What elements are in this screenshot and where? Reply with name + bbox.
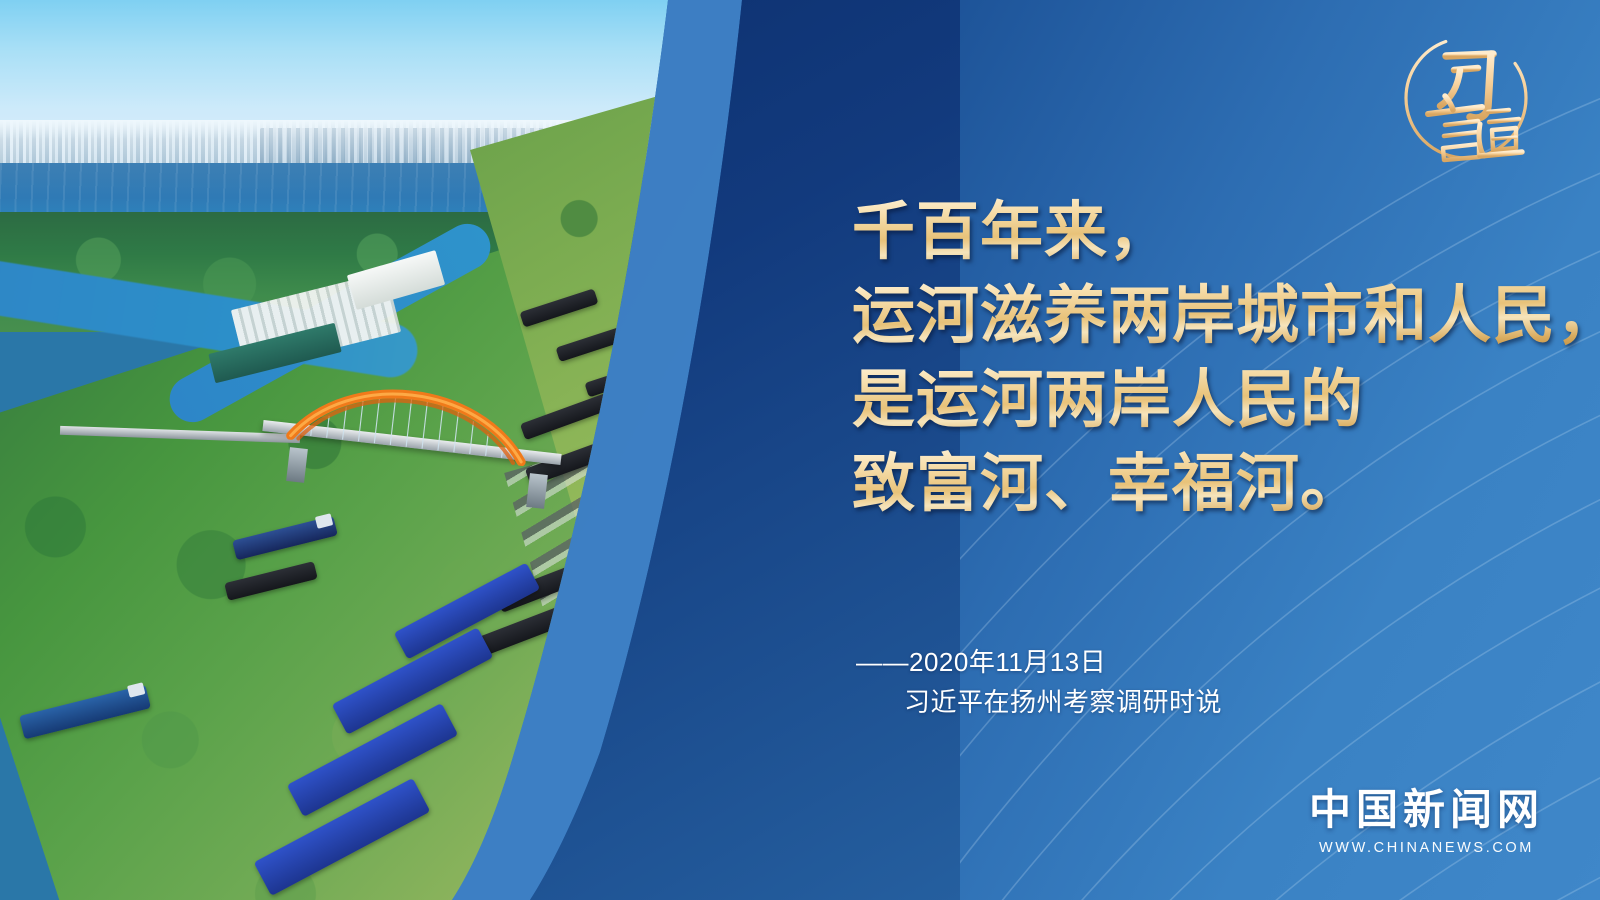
quote-line-3: 是运河两岸人民的 [852, 360, 1592, 438]
chinanews-logo[interactable]: 中国新闻网 WWW.CHINANEWS.COM [1309, 789, 1544, 856]
barge-cabin [315, 513, 333, 529]
attribution-date: ——2020年11月13日 [856, 642, 1222, 682]
quote-line-2: 运河滋养两岸城市和人民， [852, 276, 1592, 354]
quote-line-1: 千百年来， [852, 192, 1592, 270]
attribution-source: 习近平在扬州考察调研时说 [856, 682, 1222, 722]
quote-block: 千百年来， 运河滋养两岸城市和人民， 是运河两岸人民的 致富河、幸福河。 [852, 192, 1592, 528]
chinanews-url: WWW.CHINANEWS.COM [1309, 840, 1544, 856]
bridge-pier-right [526, 473, 548, 509]
chinanews-name: 中国新闻网 [1309, 789, 1544, 831]
poster-root: 千百年来， 运河滋养两岸城市和人民， 是运河两岸人民的 致富河、幸福河。 ——2… [0, 0, 1600, 900]
attribution-block: ——2020年11月13日 习近平在扬州考察调研时说 [856, 642, 1222, 723]
barge-cabin [127, 682, 145, 698]
quote-line-4: 致富河、幸福河。 [852, 444, 1592, 522]
xi-yan-dao-seal-logo [1388, 24, 1540, 176]
bridge-pier-left [286, 447, 308, 483]
